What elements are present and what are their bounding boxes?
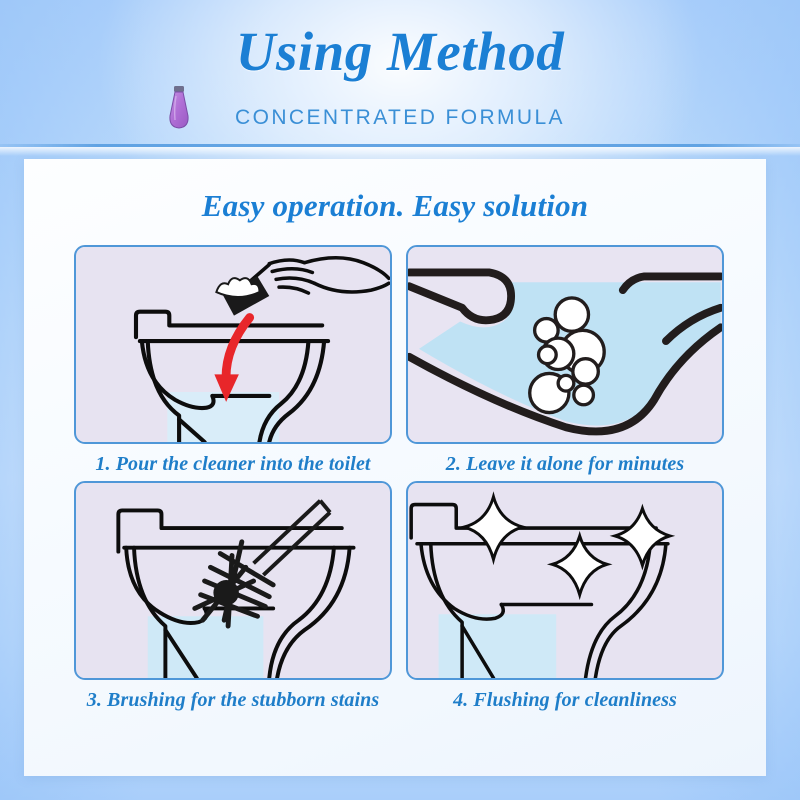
- step-item: 3. Brushing for the stubborn stains: [74, 481, 392, 711]
- step-3-illustration: [74, 481, 392, 680]
- step-item: 2. Leave it alone for minutes: [406, 245, 724, 475]
- step-4-illustration: [406, 481, 724, 680]
- tagline: Easy operation. Easy solution: [24, 190, 766, 221]
- cleaner-bottle-icon: [166, 86, 192, 132]
- page-subtitle: CONCENTRATED FORMULA: [0, 107, 800, 128]
- step-item: 4. Flushing for cleanliness: [406, 481, 724, 711]
- header-divider-glow: [0, 147, 800, 156]
- content-card: Easy operation. Easy solution: [24, 159, 766, 776]
- step-2-caption: 2. Leave it alone for minutes: [406, 453, 724, 475]
- step-3-caption: 3. Brushing for the stubborn stains: [74, 689, 392, 711]
- step-1-caption: 1. Pour the cleaner into the toilet: [74, 453, 392, 475]
- step-item: 1. Pour the cleaner into the toilet: [74, 245, 392, 475]
- poster-root: Using Method CONCENTRATED FORMULA Easy o…: [0, 0, 800, 800]
- step-2-illustration: [406, 245, 724, 444]
- page-title: Using Method: [0, 24, 800, 79]
- steps-grid: 1. Pour the cleaner into the toilet: [74, 245, 724, 711]
- step-4-caption: 4. Flushing for cleanliness: [406, 689, 724, 711]
- poster-header: Using Method CONCENTRATED FORMULA: [0, 0, 800, 150]
- step-1-illustration: [74, 245, 392, 444]
